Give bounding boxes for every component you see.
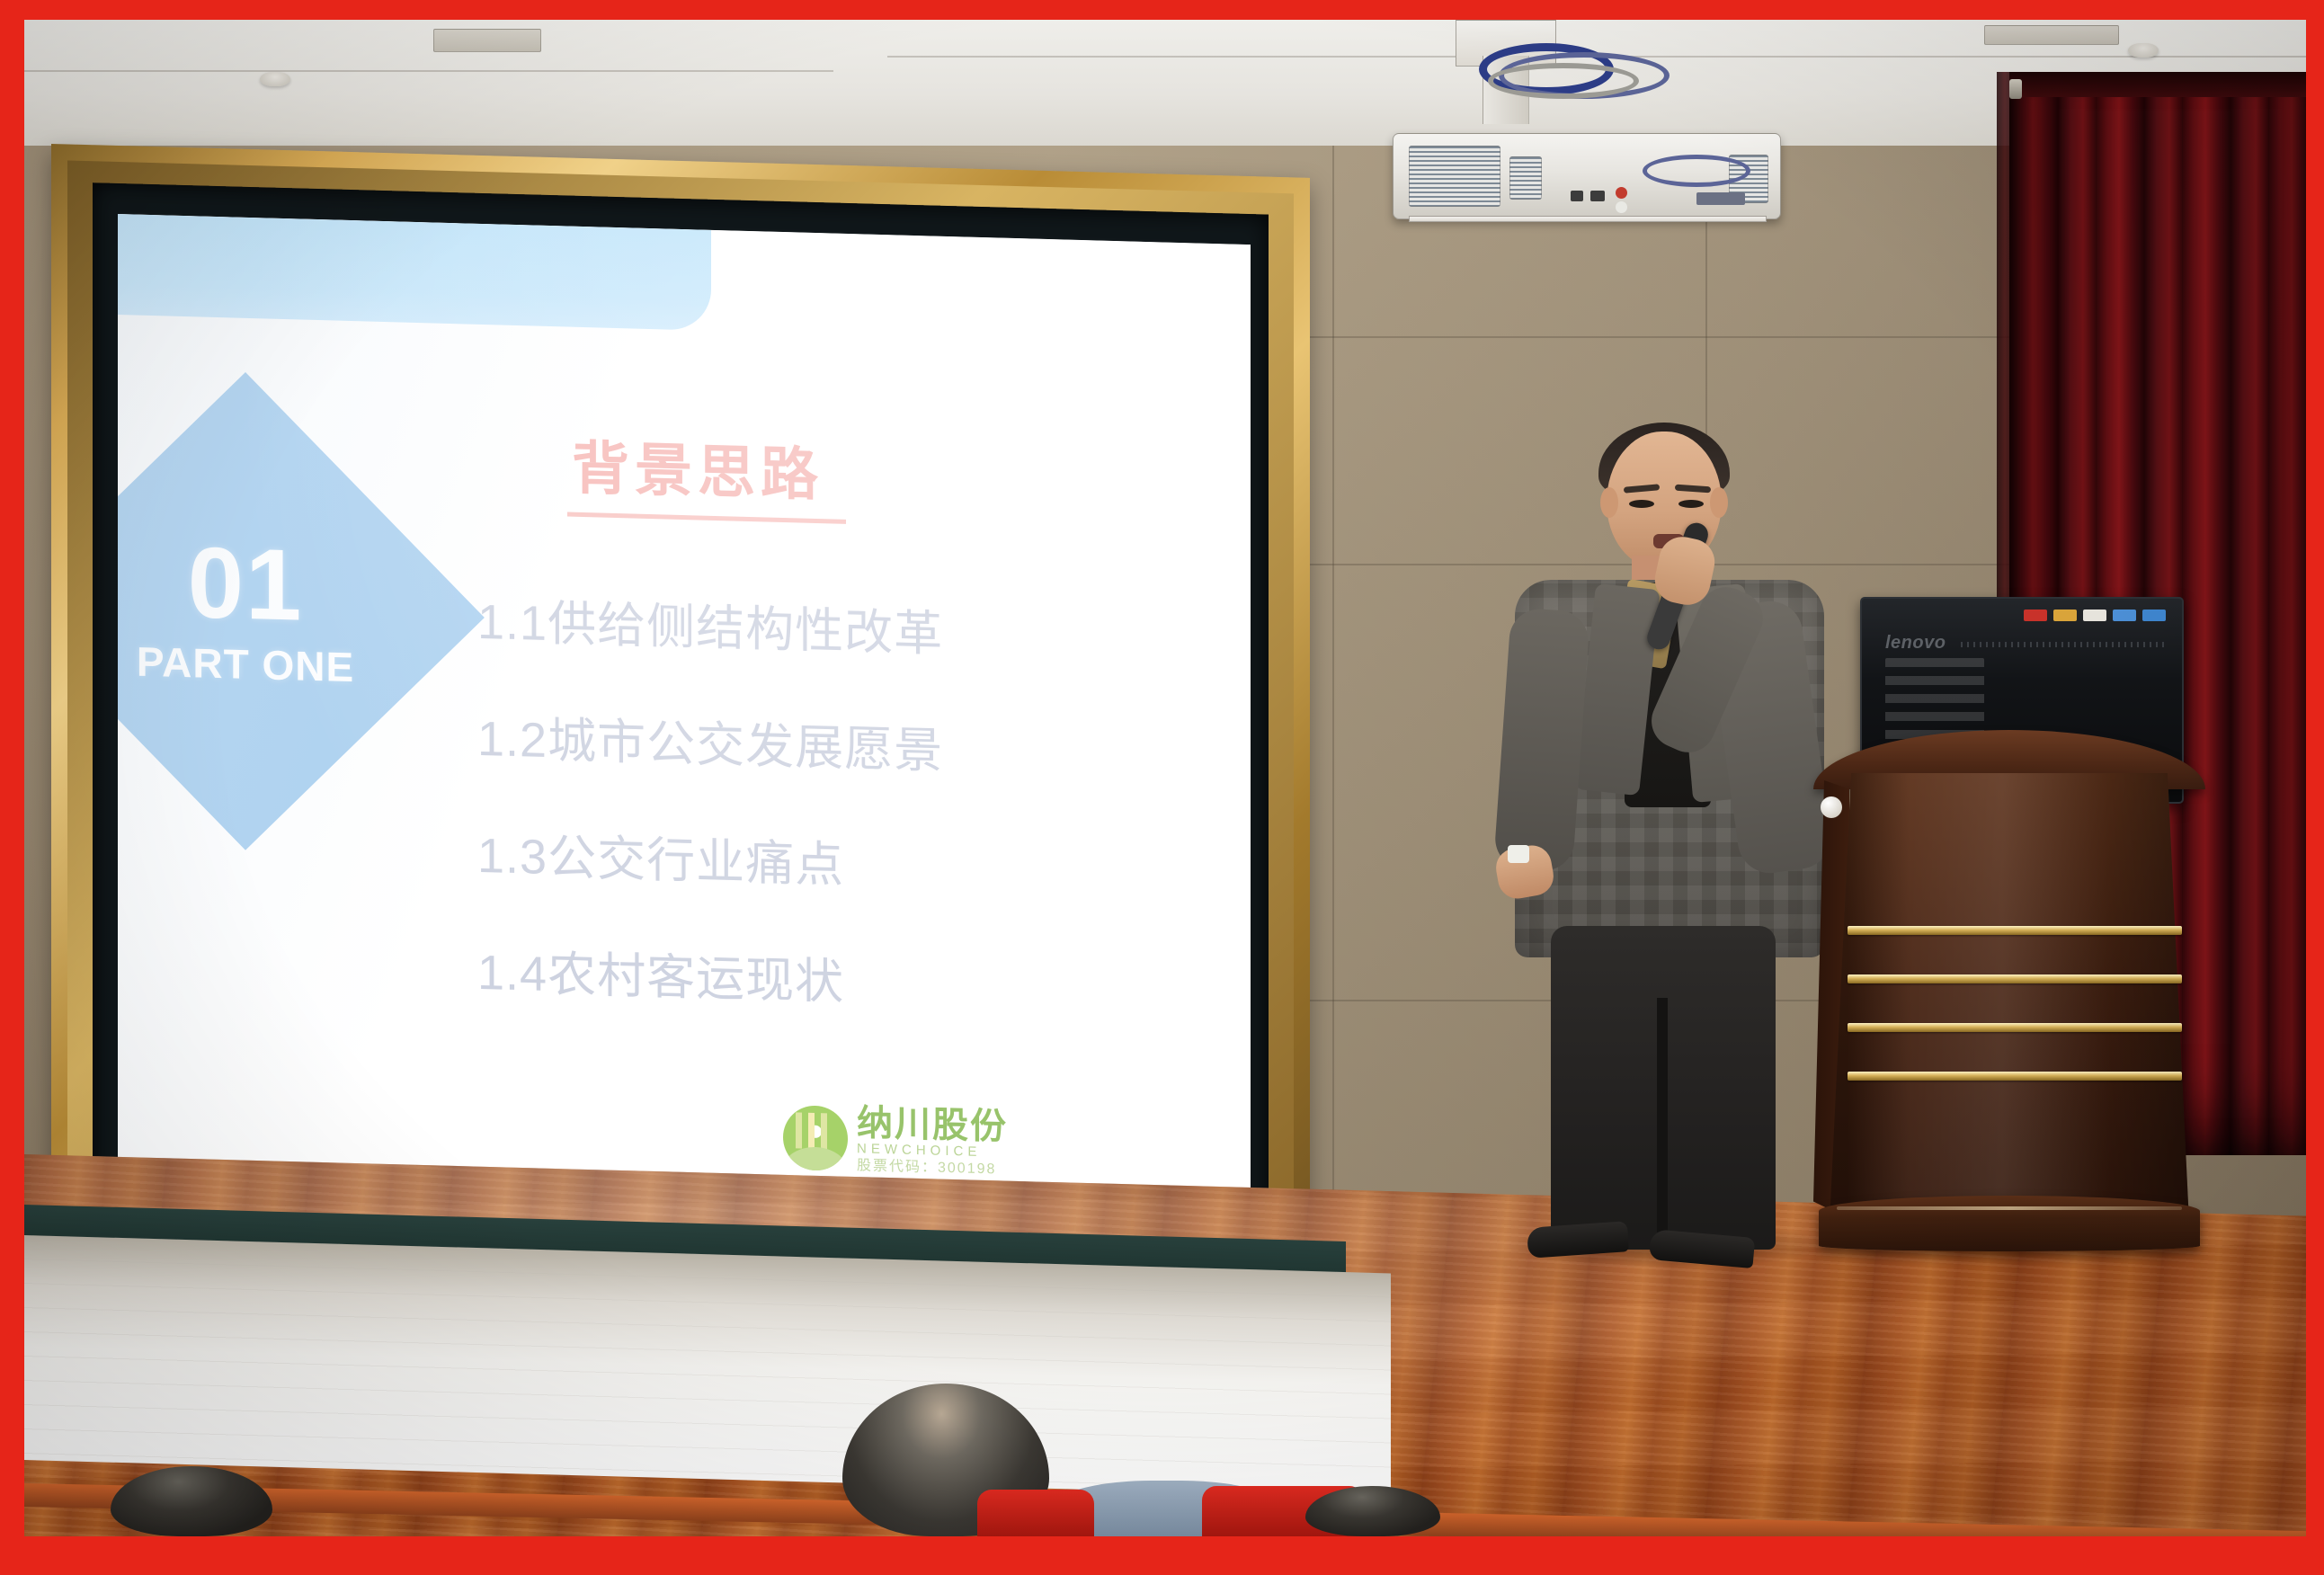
presentation-slide: 01 PART ONE 背景思路 1.1供给侧结构性改革 1.2城市公交发展愿景…: [118, 214, 1251, 1219]
lectern: [1813, 730, 2205, 1260]
section-badge: 01 PART ONE: [118, 438, 414, 785]
ceiling-vent: [1984, 25, 2119, 45]
monitor-brand-label: lenovo: [1885, 633, 1946, 654]
smoke-detector-icon: [260, 72, 290, 86]
slide-bullet-2: 1.2城市公交发展愿景: [477, 699, 943, 782]
speaker-eye: [1629, 500, 1654, 508]
projector-port: [1590, 191, 1605, 201]
lectern-front-panel: [1830, 773, 2189, 1223]
photo-poster: 01 PART ONE 背景思路 1.1供给侧结构性改革 1.2城市公交发展愿景…: [0, 0, 2324, 1575]
logo-stock-code: 股票代码：300198: [857, 1159, 1008, 1178]
lectern-knob: [1821, 796, 1842, 818]
floor-plank-lines: [24, 1235, 1391, 1498]
projector-port-vga: [1696, 192, 1745, 205]
slide-title: 背景思路: [572, 423, 824, 512]
logo-mark-icon: [783, 1105, 848, 1171]
monitor-sticker: [2113, 610, 2136, 621]
projector-base-bar: [1409, 216, 1767, 222]
speaker-leg-gap: [1657, 998, 1668, 1250]
speaker: [1499, 423, 1840, 1254]
sprinkler-icon: [2009, 79, 2022, 99]
curtain-valance: [2009, 72, 2306, 97]
monitor-sticker: [2053, 610, 2077, 621]
speaker-eye: [1678, 500, 1704, 508]
projection-screen-frame: 01 PART ONE 背景思路 1.1供给侧结构性改革 1.2城市公交发展愿景…: [51, 144, 1310, 1286]
lectern-gold-trim: [1848, 1072, 2182, 1081]
slide-bullet-1: 1.1供给侧结构性改革: [477, 582, 943, 665]
logo-name-en: NEWCHOICE: [857, 1142, 1008, 1160]
logo-name-cn: 纳川股份: [857, 1104, 1008, 1146]
ceiling-vent: [433, 29, 541, 52]
chair-back: [977, 1490, 1094, 1536]
slide-title-underline: [567, 512, 846, 524]
slide-header-banner: [118, 214, 711, 331]
company-logo: 纳川股份 NEWCHOICE 股票代码：300198: [783, 1102, 1008, 1178]
projector-cable-grey: [1488, 63, 1639, 99]
section-number: 01: [188, 532, 304, 636]
monitor-stickers: [2024, 610, 2166, 621]
projector-vent: [1509, 156, 1542, 200]
projector-cable: [1643, 155, 1750, 187]
monitor-sticker: [2142, 610, 2166, 621]
projector-port: [1571, 191, 1583, 201]
photograph: 01 PART ONE 背景思路 1.1供给侧结构性改革 1.2城市公交发展愿景…: [24, 20, 2306, 1536]
presenter-clicker-icon: [1508, 845, 1529, 863]
wall-panel-seam: [1310, 336, 2020, 338]
slide-bullet-4: 1.4农村客运现状: [477, 932, 844, 1013]
speaker-shoe: [1527, 1221, 1629, 1259]
speaker-ear: [1710, 487, 1728, 518]
ceiling-seam: [24, 70, 833, 72]
slide-bullet-3: 1.3公交行业痛点: [477, 815, 844, 896]
projection-surface: 01 PART ONE 背景思路 1.1供给侧结构性改革 1.2城市公交发展愿景…: [118, 214, 1251, 1219]
section-label: PART ONE: [137, 637, 354, 692]
smoke-detector-icon: [2128, 43, 2159, 58]
lectern-base-trim: [1837, 1206, 2182, 1210]
lectern-gold-trim: [1848, 926, 2182, 935]
lectern-gold-trim: [1848, 974, 2182, 983]
wall-panel-seam: [1332, 146, 1334, 1224]
screen-floor-reflection: [24, 1235, 1391, 1498]
projector-port-rca: [1616, 187, 1627, 199]
lectern-base: [1819, 1196, 2200, 1251]
projector-vent: [1409, 146, 1500, 207]
monitor-sticker: [2083, 610, 2106, 621]
projector-port-rca: [1616, 201, 1627, 213]
lectern-gold-trim: [1848, 1023, 2182, 1032]
screen-surround: 01 PART ONE 背景思路 1.1供给侧结构性改革 1.2城市公交发展愿景…: [93, 182, 1269, 1248]
speaker-ear: [1600, 487, 1618, 518]
monitor-sticker: [2024, 610, 2047, 621]
ceiling: [24, 20, 2306, 155]
monitor-vent-dots: [1961, 642, 2168, 647]
logo-text-block: 纳川股份 NEWCHOICE 股票代码：300198: [857, 1104, 1008, 1178]
